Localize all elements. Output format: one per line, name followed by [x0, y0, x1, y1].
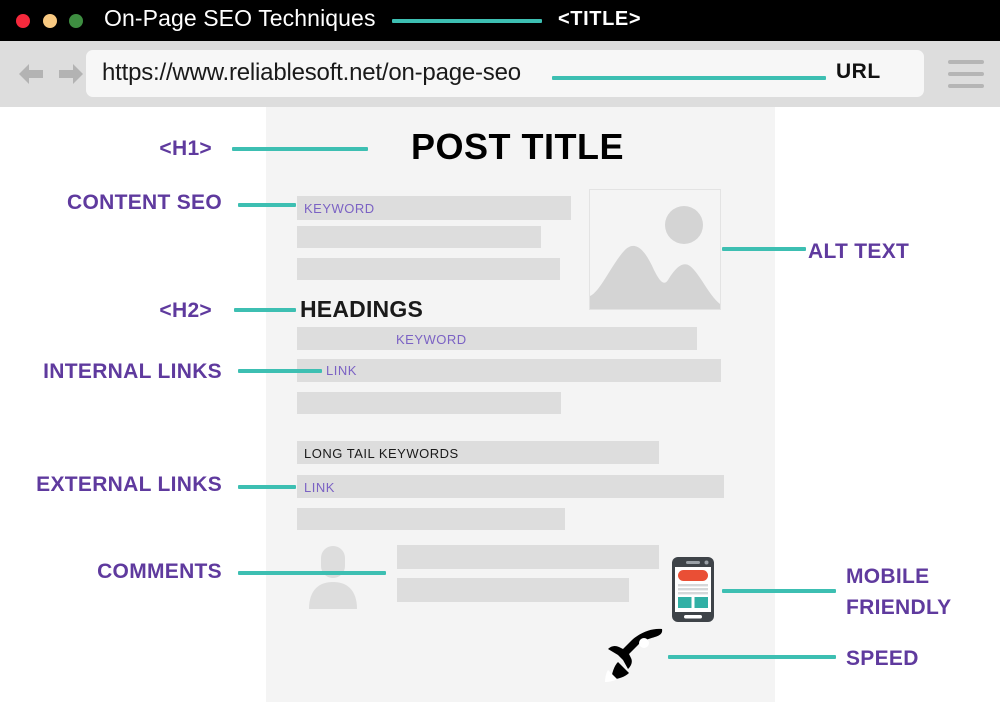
content-bar [297, 508, 565, 530]
rocket-icon [605, 628, 665, 688]
content-bar [297, 392, 561, 414]
internal-link-label: LINK [326, 363, 357, 378]
content-bar [297, 258, 560, 280]
long-tail-keywords-label: LONG TAIL KEYWORDS [304, 446, 459, 461]
annotation-mobile-friendly: MOBILE FRIENDLY [846, 561, 996, 623]
leader-line-comments [238, 571, 386, 575]
leader-line-h2 [234, 308, 296, 312]
mobile-phone-icon [672, 557, 714, 627]
annotation-internal-links: INTERNAL LINKS [0, 356, 222, 387]
window-title: On-Page SEO Techniques [104, 5, 376, 32]
url-tag-label: URL [836, 60, 881, 84]
infographic-root: On-Page SEO Techniques <TITLE> https://w… [0, 0, 1000, 709]
leader-line-alt-text [722, 247, 806, 251]
annotation-h2: <H2> [60, 295, 212, 326]
comment-bar [397, 545, 659, 569]
leader-line-internal-links [238, 369, 322, 373]
leader-line-title [392, 19, 542, 23]
content-bar [297, 226, 541, 248]
maximize-window-dot[interactable] [69, 14, 83, 28]
leader-line-url [552, 76, 826, 80]
leader-line-speed [668, 655, 836, 659]
content-bar [297, 327, 697, 350]
annotation-content-seo: CONTENT SEO [0, 187, 222, 218]
arrow-right-icon[interactable] [56, 61, 86, 87]
external-link-label: LINK [304, 480, 335, 495]
url-input[interactable]: https://www.reliablesoft.net/on-page-seo [102, 59, 521, 87]
minimize-window-dot[interactable] [43, 14, 57, 28]
title-tag-label: <TITLE> [558, 8, 641, 31]
hamburger-bar [948, 72, 984, 76]
mock-post-title: POST TITLE [411, 126, 624, 168]
leader-line-mobile-friendly [722, 589, 836, 593]
leader-line-content-seo [238, 203, 296, 207]
user-avatar-icon [305, 546, 361, 614]
annotation-external-links: EXTERNAL LINKS [0, 469, 222, 500]
annotation-speed: SPEED [846, 643, 919, 674]
annotation-h1: <H1> [60, 133, 212, 164]
content-bar [297, 359, 721, 382]
hamburger-bar [948, 84, 984, 88]
arrow-left-icon[interactable] [16, 61, 46, 87]
keyword-label-2: KEYWORD [396, 332, 467, 347]
annotation-alt-text: ALT TEXT [808, 236, 909, 267]
keyword-label-1: KEYWORD [304, 201, 375, 216]
annotation-comments: COMMENTS [40, 556, 222, 587]
comment-bar [397, 578, 629, 602]
leader-line-external-links [238, 485, 296, 489]
close-window-dot[interactable] [16, 14, 30, 28]
hamburger-bar [948, 60, 984, 64]
hamburger-menu-icon[interactable] [948, 60, 984, 88]
image-placeholder-icon [589, 189, 721, 310]
content-bar [297, 475, 724, 498]
mock-heading-h2: HEADINGS [300, 296, 423, 323]
leader-line-h1 [232, 147, 368, 151]
